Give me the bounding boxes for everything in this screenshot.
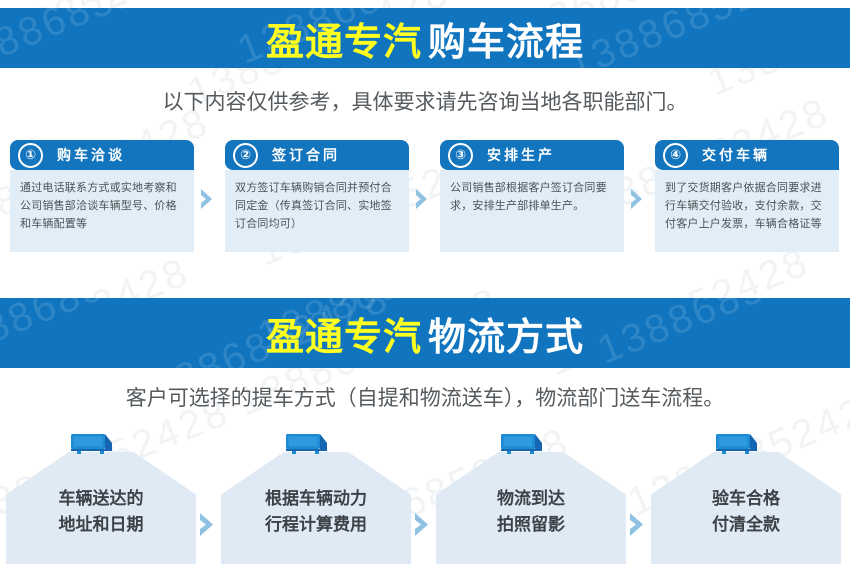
promo-page: 13886852428 13886852428 13886852428 1388… <box>0 0 850 564</box>
watermark-text: 13886852428 <box>562 8 836 68</box>
watermark-text: 13886852428 <box>0 8 216 68</box>
logistics-banner: 13886852428 13886852428 13886852428 1388… <box>0 298 850 368</box>
chevron-right-icon <box>629 188 644 210</box>
logistics-card-line1: 验车合格 <box>712 489 780 509</box>
step-title: 交付车辆 <box>702 145 770 165</box>
logistics-card-line2: 行程计算费用 <box>221 512 411 538</box>
truck-icon <box>68 430 120 458</box>
step-number-badge: ④ <box>663 143 688 168</box>
step-card: ① 购车洽谈 通过电话联系方式或实地考察和公司销售部洽谈车辆型号、价格和车辆配置… <box>10 140 194 252</box>
watermark-text: 13886852428 <box>0 298 206 368</box>
chevron-right-icon <box>199 188 214 210</box>
logistics-card-line2: 地址和日期 <box>6 512 196 538</box>
step-title: 安排生产 <box>487 145 555 165</box>
truck-icon <box>283 430 335 458</box>
logistics-card: 根据车辆动力 行程计算费用 <box>221 430 411 564</box>
step-header: ② 签订合同 <box>225 140 409 170</box>
step-card: ② 签订合同 双方签订车辆购销合同并预付合同定金（传真签订合同、实地签订合同均可… <box>225 140 409 252</box>
purchase-banner-brand: 盈通专汽 <box>266 20 422 64</box>
step-title: 签订合同 <box>272 145 340 165</box>
step-body-text: 双方签订车辆购销合同并预付合同定金（传真签订合同、实地签订合同均可） <box>225 170 409 252</box>
logistics-banner-brand: 盈通专汽 <box>266 315 422 359</box>
step-header: ③ 安排生产 <box>440 140 624 170</box>
step-body-text: 到了交货期客户依据合同要求进行车辆交付验收，支付余款，交付客户上户发票，车辆合格… <box>655 170 839 252</box>
logistics-card-text: 根据车辆动力 行程计算费用 <box>221 486 411 539</box>
chevron-right-icon <box>414 188 429 210</box>
logistics-card-text: 验车合格 付清全款 <box>651 486 841 539</box>
logistics-subtitle: 客户可选择的提车方式（自提和物流送车），物流部门送车流程。 <box>0 382 850 412</box>
step-card: ③ 安排生产 公司销售部根据客户签订合同要求，安排生产部排单生产。 <box>440 140 624 252</box>
logistics-banner-title: 盈通专汽物流方式 <box>266 306 584 361</box>
logistics-card: 物流到达 拍照留影 <box>436 430 626 564</box>
chevron-right-icon <box>628 512 645 537</box>
step-header: ④ 交付车辆 <box>655 140 839 170</box>
step-card: ④ 交付车辆 到了交货期客户依据合同要求进行车辆交付验收，支付余款，交付客户上户… <box>655 140 839 252</box>
logistics-cards-row: 车辆送达的 地址和日期 根据车辆动力 行程计算费用 <box>0 430 850 564</box>
logistics-card: 验车合格 付清全款 <box>651 430 841 564</box>
chevron-right-icon <box>198 512 215 537</box>
purchase-banner: 13886852428 13886852428 13886852428 盈通专汽… <box>0 8 850 68</box>
logistics-card: 车辆送达的 地址和日期 <box>6 430 196 564</box>
logistics-card-line1: 根据车辆动力 <box>265 489 367 509</box>
truck-icon <box>498 430 550 458</box>
purchase-banner-subject: 购车流程 <box>428 20 584 64</box>
logistics-card-text: 车辆送达的 地址和日期 <box>6 486 196 539</box>
purchase-banner-title: 盈通专汽购车流程 <box>266 11 584 66</box>
step-body-text: 通过电话联系方式或实地考察和公司销售部洽谈车辆型号、价格和车辆配置等 <box>10 170 194 252</box>
chevron-right-icon <box>413 512 430 537</box>
step-number-badge: ① <box>18 143 43 168</box>
step-number-badge: ③ <box>448 143 473 168</box>
step-number-badge: ② <box>233 143 258 168</box>
logistics-card-line1: 车辆送达的 <box>59 489 144 509</box>
truck-icon <box>713 430 765 458</box>
logistics-card-text: 物流到达 拍照留影 <box>436 486 626 539</box>
step-header: ① 购车洽谈 <box>10 140 194 170</box>
watermark-text: 13886852428 <box>592 298 850 368</box>
step-body-text: 公司销售部根据客户签订合同要求，安排生产部排单生产。 <box>440 170 624 252</box>
logistics-card-line2: 付清全款 <box>651 512 841 538</box>
logistics-banner-subject: 物流方式 <box>428 315 584 359</box>
logistics-card-line1: 物流到达 <box>497 489 565 509</box>
step-title: 购车洽谈 <box>57 145 125 165</box>
purchase-subtitle: 以下内容仅供参考，具体要求请先咨询当地各职能部门。 <box>0 86 850 116</box>
logistics-card-line2: 拍照留影 <box>436 512 626 538</box>
